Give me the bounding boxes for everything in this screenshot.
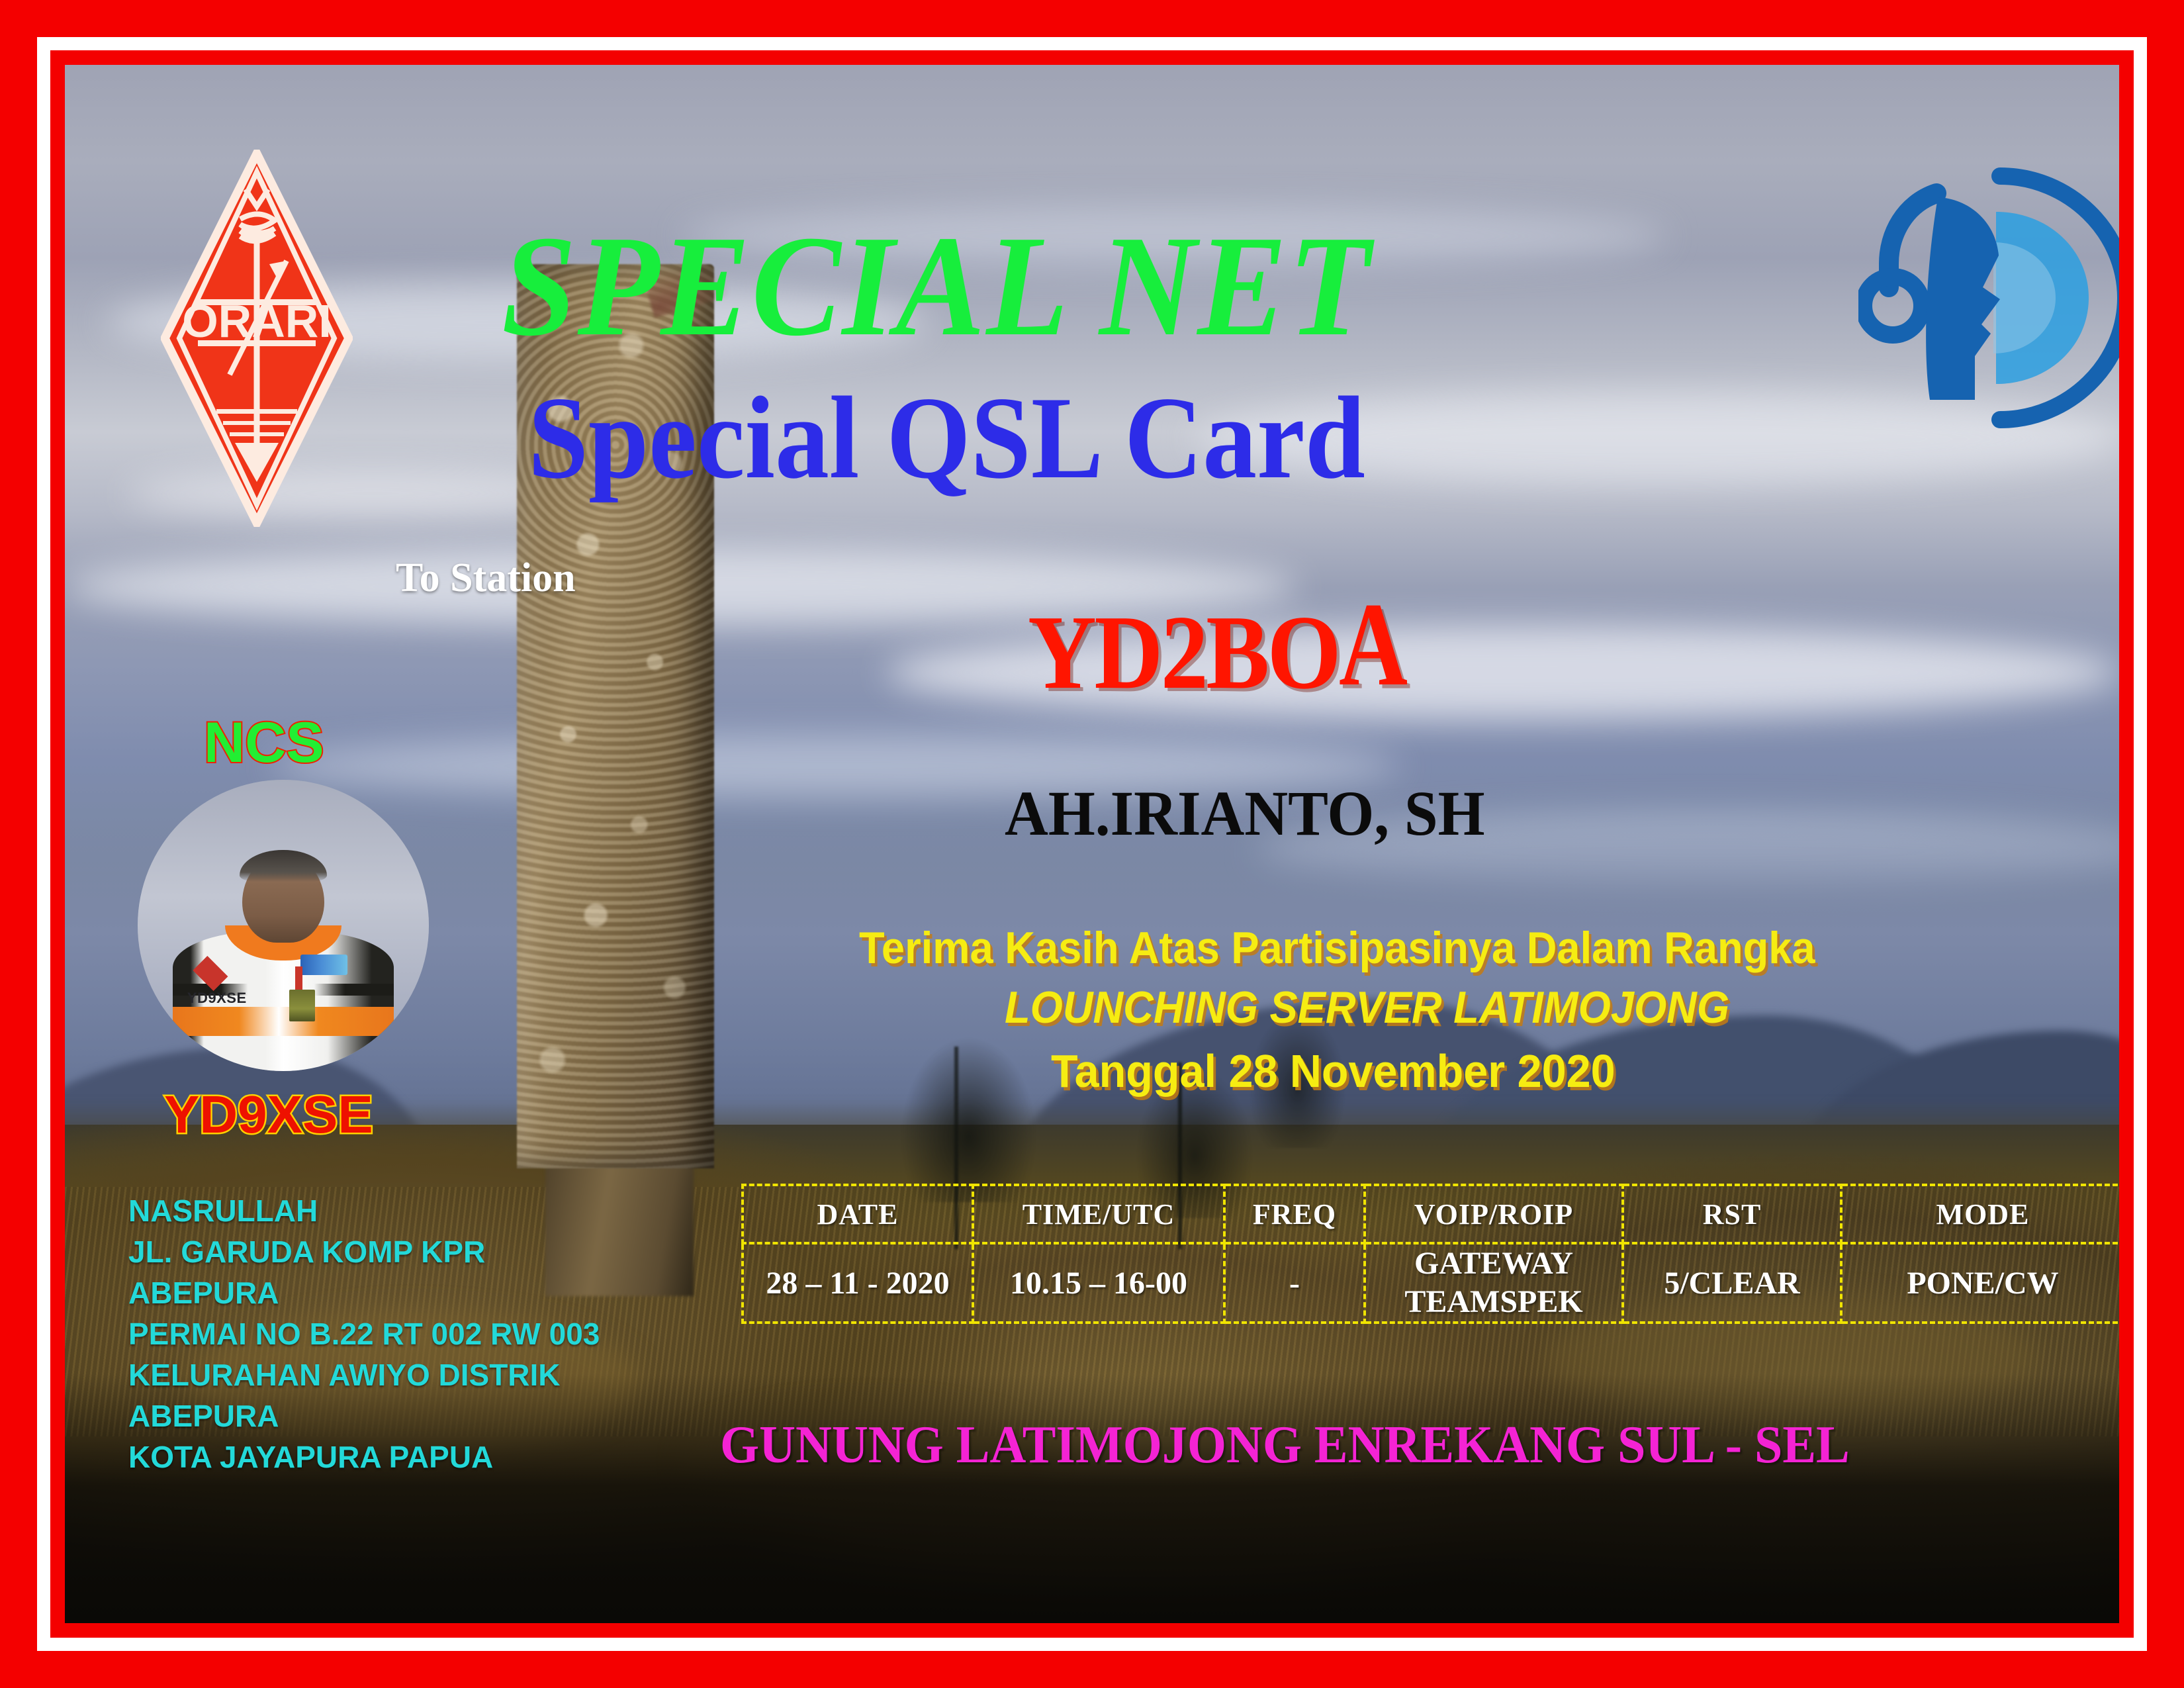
- address-line: ABEPURA: [128, 1272, 600, 1313]
- ncs-operator-photo: YD9XSE: [138, 780, 429, 1071]
- card-red-inner-frame: ORARI: [50, 50, 2134, 1638]
- station-address-block: NASRULLAH JL. GARUDA KOMP KPR ABEPURA PE…: [128, 1190, 600, 1477]
- address-line: JL. GARUDA KOMP KPR: [128, 1231, 600, 1272]
- column-header-time: TIME/UTC: [973, 1185, 1224, 1243]
- operator-name: AH.IRIANTO, SH: [1005, 776, 1485, 850]
- page-subtitle-special-qsl-card: Special QSL Card: [528, 369, 1365, 506]
- address-line: ABEPURA: [128, 1395, 600, 1436]
- callsign-head: YD2BO: [1028, 593, 1339, 711]
- address-line: KOTA JAYAPURA PAPUA: [128, 1436, 600, 1477]
- event-launch-line: LOUNCHING SERVER LATIMOJONG: [1005, 982, 1729, 1033]
- event-date-line: Tanggal 28 November 2020: [1051, 1045, 1615, 1098]
- column-header-rst: RST: [1623, 1185, 1841, 1243]
- photo-uniform-callsign: YD9XSE: [187, 990, 247, 1007]
- photo-chest-logo: [300, 955, 347, 975]
- callsign-tail: A: [1339, 575, 1405, 714]
- column-header-freq: FREQ: [1224, 1185, 1365, 1243]
- cell-freq: -: [1224, 1243, 1365, 1323]
- ncs-callsign: YD9XSE: [164, 1084, 373, 1145]
- cell-rst: 5/CLEAR: [1623, 1243, 1841, 1323]
- cell-voip: GATEWAY TEAMSPEK: [1365, 1243, 1623, 1323]
- table-header-row: DATE TIME/UTC FREQ VOIP/ROIP RST MODE: [743, 1185, 2119, 1243]
- location-line: GUNUNG LATIMOJONG ENREKANG SUL - SEL: [720, 1415, 1850, 1476]
- photo-id-badge: [289, 990, 316, 1021]
- qsl-card: ORARI: [0, 0, 2184, 1688]
- address-line: NASRULLAH: [128, 1190, 600, 1231]
- tree-silhouette: [897, 1031, 1040, 1202]
- orari-logo: ORARI: [161, 150, 353, 527]
- address-line: KELURAHAN AWIYO DISTRIK: [128, 1354, 600, 1395]
- page-title-special-net: SPECIAL NET: [502, 204, 1371, 369]
- photo-uniform-sash: [173, 1007, 394, 1036]
- card-photo-area: ORARI: [65, 65, 2119, 1623]
- qso-log-table: DATE TIME/UTC FREQ VOIP/ROIP RST MODE 28…: [741, 1184, 2119, 1324]
- cell-voip-line1: GATEWAY: [1366, 1244, 1621, 1283]
- address-line: PERMAI NO B.22 RT 002 RW 003: [128, 1313, 600, 1354]
- table-row: 28 – 11 - 2020 10.15 – 16-00 - GATEWAY T…: [743, 1243, 2119, 1323]
- column-header-date: DATE: [743, 1185, 973, 1243]
- station-callsign: YD2BOA: [1028, 591, 1405, 714]
- cell-voip-line2: TEAMSPEK: [1366, 1283, 1621, 1321]
- event-thanks-line: Terima Kasih Atas Partisipasinya Dalam R…: [859, 922, 1815, 974]
- cell-date: 28 – 11 - 2020: [743, 1243, 973, 1323]
- ncs-label: NCS: [204, 710, 324, 776]
- orari-logo-text: ORARI: [182, 295, 332, 347]
- to-station-label: To Station: [396, 555, 576, 602]
- card-white-frame: ORARI: [37, 37, 2147, 1651]
- column-header-mode: MODE: [1841, 1185, 2119, 1243]
- cell-time: 10.15 – 16-00: [973, 1243, 1224, 1323]
- headset-profile-radio-logo: [1858, 158, 2119, 436]
- column-header-voip: VOIP/ROIP: [1365, 1185, 1623, 1243]
- cell-mode: PONE/CW: [1841, 1243, 2119, 1323]
